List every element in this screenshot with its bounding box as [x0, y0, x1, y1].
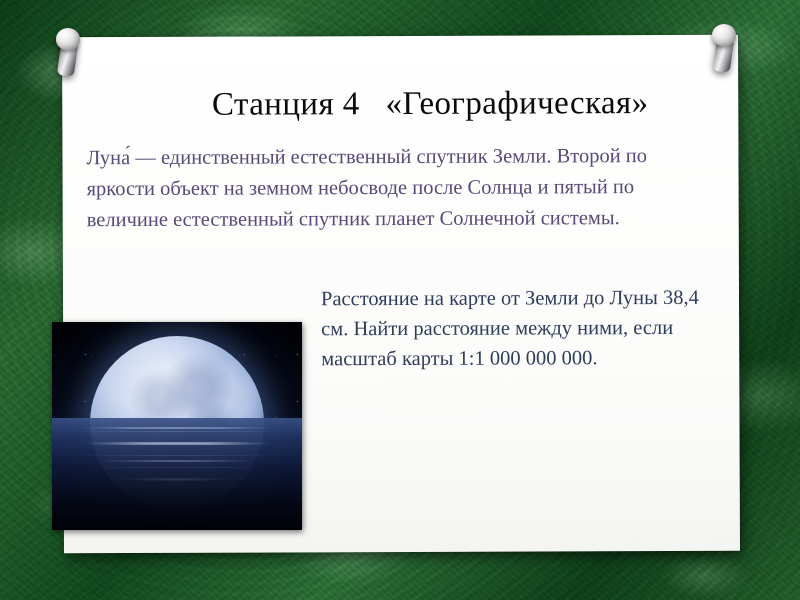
moon-over-water-image [52, 322, 302, 530]
pin-head [56, 28, 80, 50]
title-station-name: «Географическая» [386, 85, 649, 122]
title-station-label: Станция 4 [212, 86, 360, 123]
task-question-paragraph: Расстояние на карте от Земли до Луны 38,… [321, 283, 731, 375]
slide-canvas: Станция 4«Географическая» Луна́ — единст… [0, 0, 800, 600]
pin-head [712, 24, 736, 46]
water-ripple-lines [52, 426, 302, 530]
moon-description-paragraph: Луна́ — единственный естественный спутни… [86, 141, 716, 236]
push-pin-left-icon [50, 26, 86, 86]
push-pin-right-icon [706, 22, 742, 82]
page-title: Станция 4«Географическая» [120, 83, 740, 125]
